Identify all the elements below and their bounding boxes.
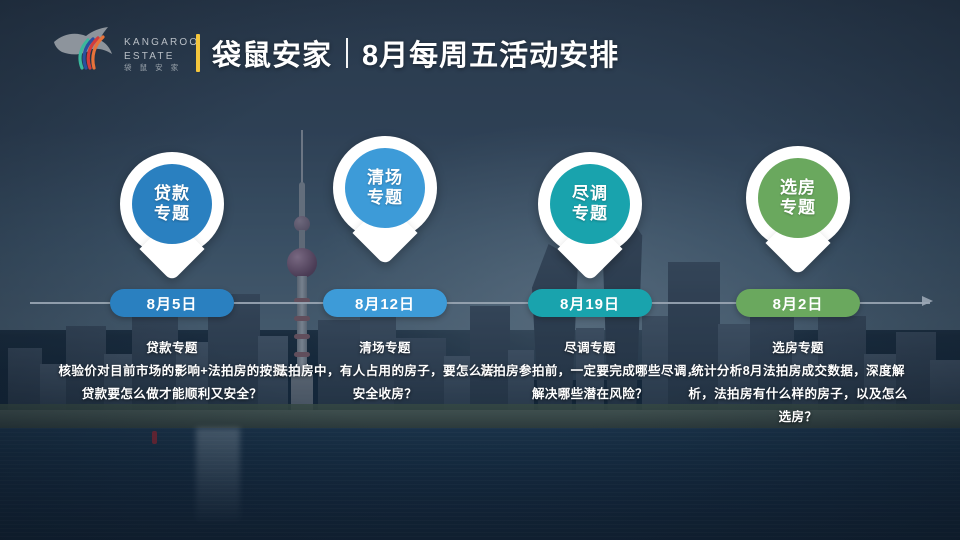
date-badge[interactable]: 8月19日 bbox=[528, 289, 652, 317]
timeline-arrow-icon bbox=[922, 296, 933, 306]
date-badge[interactable]: 8月5日 bbox=[110, 289, 234, 317]
pin-label-line2: 专题 bbox=[367, 188, 403, 208]
node-description-title: 尽调专题 bbox=[476, 337, 704, 360]
node-description-title: 选房专题 bbox=[684, 337, 912, 360]
map-pin-icon[interactable]: 贷款 专题 bbox=[120, 152, 224, 280]
pin-label: 选房 专题 bbox=[758, 158, 838, 238]
map-pin-icon[interactable]: 清场 专题 bbox=[333, 136, 437, 264]
pin-label-line1: 选房 bbox=[780, 178, 816, 198]
map-pin-icon[interactable]: 尽调 专题 bbox=[538, 152, 642, 280]
pin-label: 尽调 专题 bbox=[550, 164, 630, 244]
node-description-body: 法拍房参拍前，一定要完成哪些尽调，解决哪些潜在风险？ bbox=[476, 360, 704, 406]
map-pin-icon[interactable]: 选房 专题 bbox=[746, 146, 850, 274]
poster-canvas: KANGAROO ESTATE 袋 鼠 安 家 袋鼠安家 8月每周五活动安排 贷… bbox=[0, 0, 960, 540]
pin-label-line2: 专题 bbox=[154, 204, 190, 224]
pin-label-line2: 专题 bbox=[572, 204, 608, 224]
node-description-body: 核验价对目前市场的影响+法拍房的按揭贷款要怎么做才能顺利又安全？ bbox=[58, 360, 286, 406]
node-description-body: 统计分析8月法拍房成交数据，深度解析，法拍房有什么样的房子，以及怎么选房？ bbox=[684, 360, 912, 429]
node-description: 尽调专题 法拍房参拍前，一定要完成哪些尽调，解决哪些潜在风险？ bbox=[476, 337, 704, 406]
timeline-node[interactable]: 清场 专题 8月12日 清场专题 法拍房中，有人占用的房子，要怎么样安全收房？ bbox=[265, 0, 505, 540]
node-description: 贷款专题 核验价对目前市场的影响+法拍房的按揭贷款要怎么做才能顺利又安全？ bbox=[58, 337, 286, 406]
pin-label-line1: 清场 bbox=[367, 168, 403, 188]
node-description-title: 贷款专题 bbox=[58, 337, 286, 360]
pin-label: 清场 专题 bbox=[345, 148, 425, 228]
node-description: 选房专题 统计分析8月法拍房成交数据，深度解析，法拍房有什么样的房子，以及怎么选… bbox=[684, 337, 912, 430]
node-description: 清场专题 法拍房中，有人占用的房子，要怎么样安全收房？ bbox=[271, 337, 499, 406]
date-badge[interactable]: 8月12日 bbox=[323, 289, 447, 317]
date-badge[interactable]: 8月2日 bbox=[736, 289, 860, 317]
timeline-node[interactable]: 尽调 专题 8月19日 尽调专题 法拍房参拍前，一定要完成哪些尽调，解决哪些潜在… bbox=[470, 0, 710, 540]
node-description-title: 清场专题 bbox=[271, 337, 499, 360]
timeline-node[interactable]: 贷款 专题 8月5日 贷款专题 核验价对目前市场的影响+法拍房的按揭贷款要怎么做… bbox=[52, 0, 292, 540]
pin-label: 贷款 专题 bbox=[132, 164, 212, 244]
pin-label-line1: 尽调 bbox=[572, 184, 608, 204]
node-description-body: 法拍房中，有人占用的房子，要怎么样安全收房？ bbox=[271, 360, 499, 406]
timeline-node[interactable]: 选房 专题 8月2日 选房专题 统计分析8月法拍房成交数据，深度解析，法拍房有什… bbox=[678, 0, 918, 540]
pin-label-line1: 贷款 bbox=[154, 184, 190, 204]
pin-label-line2: 专题 bbox=[780, 198, 816, 218]
